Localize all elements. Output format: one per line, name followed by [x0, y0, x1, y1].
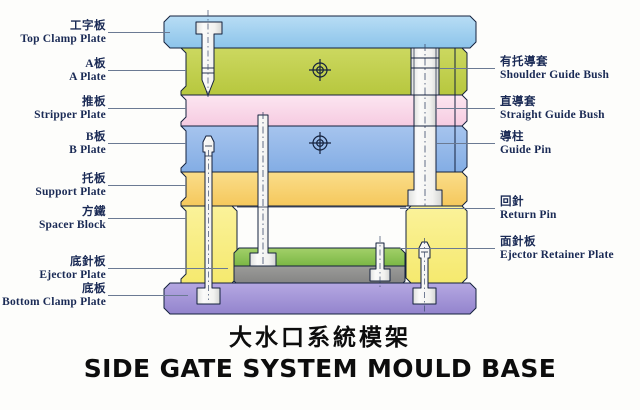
leader-spacer-block	[108, 218, 186, 219]
label-stripper-plate: 推板 Stripper Plate	[34, 96, 106, 122]
diagram-title: 大水口系統模架 SIDE GATE SYSTEM MOULD BASE	[0, 318, 640, 383]
title-english: SIDE GATE SYSTEM MOULD BASE	[0, 354, 640, 383]
label-return-pin: 回針 Return Pin	[500, 196, 557, 222]
diagram-page: 工字板 Top Clamp Plate A板 A Plate 推板 Stripp…	[0, 0, 640, 410]
label-spacer-block-cn: 方鐵	[39, 206, 106, 219]
label-bottom-clamp-plate-cn: 底板	[2, 283, 106, 296]
leader-ejector-retainer-plate	[400, 248, 495, 249]
leader-a-plate	[108, 70, 186, 71]
part-b-plate-right	[455, 126, 467, 172]
label-b-plate-en: B Plate	[69, 144, 106, 157]
part-stripper-plate-right	[455, 95, 467, 126]
label-ejector-retainer-plate: 面針板 Ejector Retainer Plate	[500, 236, 614, 262]
label-ejector-retainer-plate-cn: 面針板	[500, 236, 614, 249]
label-a-plate-cn: A板	[69, 58, 106, 71]
label-shoulder-guide-bush-en: Shoulder Guide Bush	[500, 69, 609, 82]
label-return-pin-en: Return Pin	[500, 209, 557, 222]
label-straight-guide-bush-cn: 直導套	[500, 96, 605, 109]
leader-shoulder-guide-bush	[440, 68, 495, 69]
label-support-plate-en: Support Plate	[35, 186, 106, 199]
label-a-plate: A板 A Plate	[69, 58, 106, 84]
leader-top-clamp-plate	[108, 32, 170, 33]
label-straight-guide-bush-en: Straight Guide Bush	[500, 109, 605, 122]
label-guide-pin-cn: 導柱	[500, 131, 551, 144]
label-spacer-block-en: Spacer Block	[39, 219, 106, 232]
label-shoulder-guide-bush: 有托導套 Shoulder Guide Bush	[500, 56, 609, 82]
label-support-plate: 托板 Support Plate	[35, 173, 106, 199]
label-ejector-retainer-plate-en: Ejector Retainer Plate	[500, 249, 614, 262]
label-stripper-plate-en: Stripper Plate	[34, 109, 106, 122]
label-return-pin-cn: 回針	[500, 196, 557, 209]
leader-return-pin	[400, 208, 495, 209]
title-chinese: 大水口系統模架	[0, 318, 640, 352]
label-bottom-clamp-plate: 底板 Bottom Clamp Plate	[2, 283, 106, 309]
leader-b-plate	[108, 143, 186, 144]
leader-bottom-clamp-plate	[108, 295, 188, 296]
label-stripper-plate-cn: 推板	[34, 96, 106, 109]
label-top-clamp-plate-cn: 工字板	[20, 20, 106, 33]
label-top-clamp-plate-en: Top Clamp Plate	[20, 33, 106, 46]
label-straight-guide-bush: 直導套 Straight Guide Bush	[500, 96, 605, 122]
leader-stripper-plate	[108, 108, 186, 109]
leader-ejector-plate	[108, 268, 228, 269]
label-support-plate-cn: 托板	[35, 173, 106, 186]
label-ejector-plate: 底針板 Ejector Plate	[39, 256, 106, 282]
leader-straight-guide-bush	[437, 108, 495, 109]
label-ejector-plate-en: Ejector Plate	[39, 269, 106, 282]
label-spacer-block: 方鐵 Spacer Block	[39, 206, 106, 232]
label-guide-pin: 導柱 Guide Pin	[500, 131, 551, 157]
label-b-plate-cn: B板	[69, 131, 106, 144]
leader-guide-pin	[437, 143, 495, 144]
label-b-plate: B板 B Plate	[69, 131, 106, 157]
label-guide-pin-en: Guide Pin	[500, 144, 551, 157]
label-a-plate-en: A Plate	[69, 71, 106, 84]
label-bottom-clamp-plate-en: Bottom Clamp Plate	[2, 296, 106, 309]
label-ejector-plate-cn: 底針板	[39, 256, 106, 269]
part-spacer-block-right	[406, 206, 467, 283]
label-shoulder-guide-bush-cn: 有托導套	[500, 56, 609, 69]
part-a-plate-right	[455, 48, 467, 95]
leader-support-plate	[108, 185, 186, 186]
label-top-clamp-plate: 工字板 Top Clamp Plate	[20, 20, 106, 46]
